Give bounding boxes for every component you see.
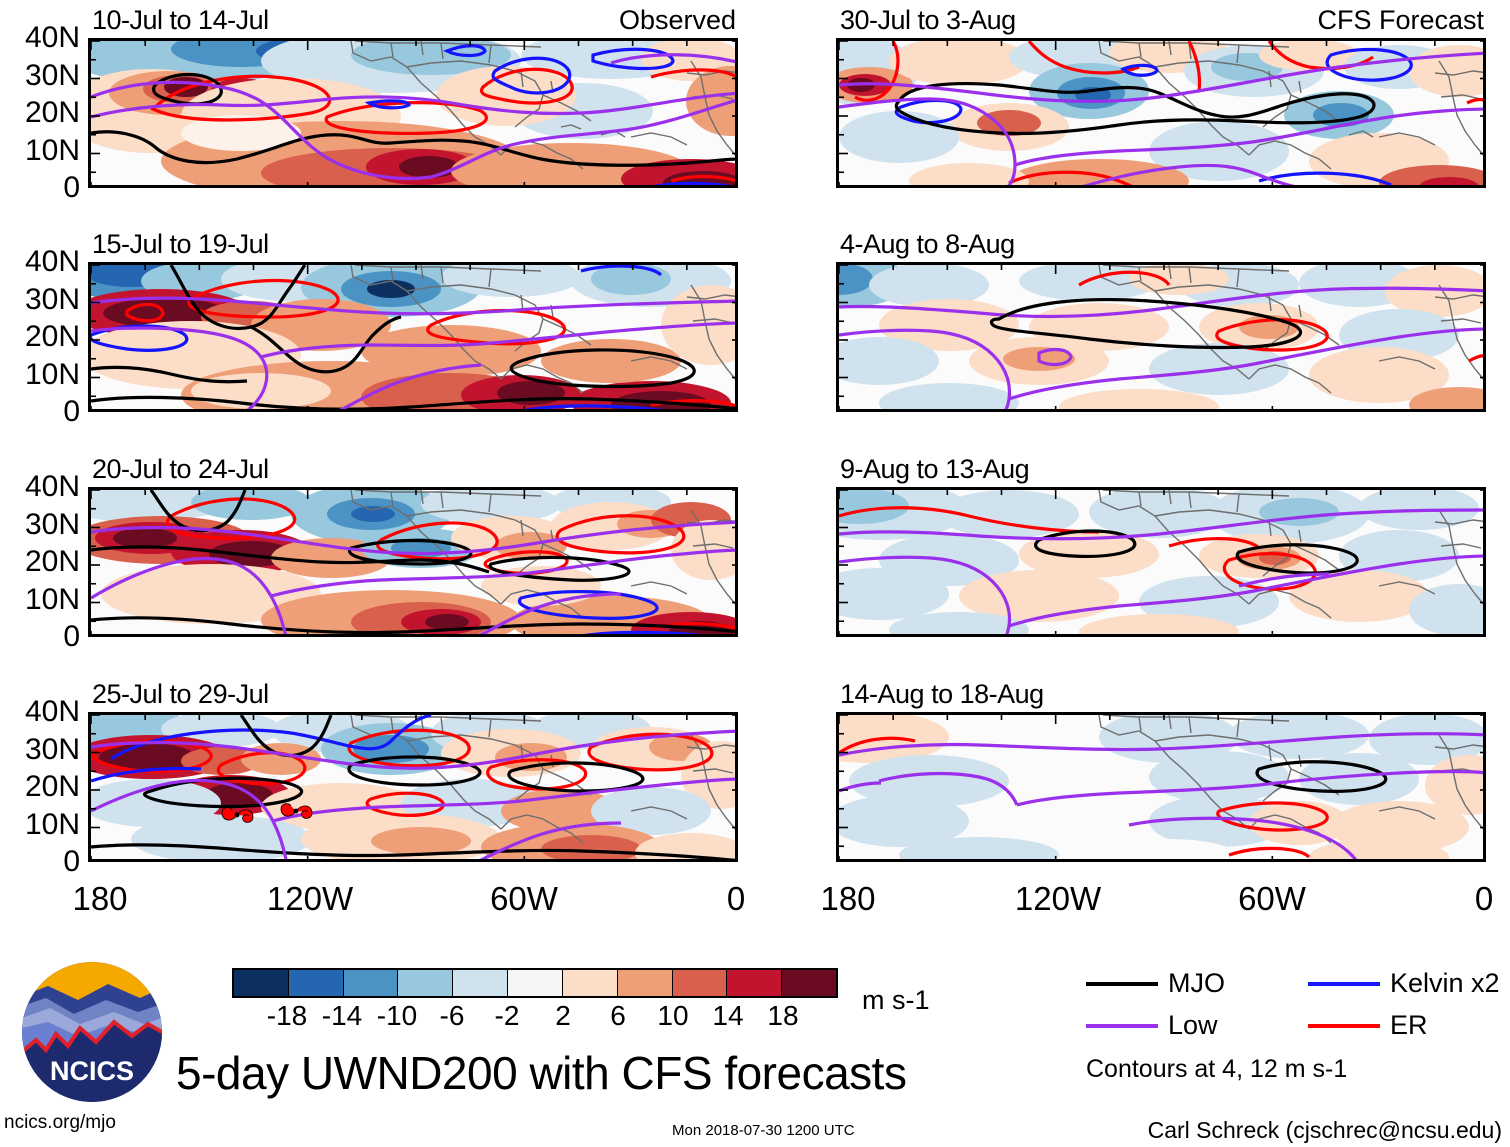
- ytick-30n: 30N: [25, 510, 80, 540]
- map-area: [836, 262, 1486, 412]
- y-axis-labels-row3: 40N 30N 20N 10N 0: [0, 487, 80, 637]
- map-area: [88, 487, 738, 637]
- ytick-20n: 20N: [25, 322, 80, 352]
- ncics-logo-svg: NCICS: [22, 962, 162, 1102]
- map-svg: [91, 265, 738, 412]
- ytick-30n: 30N: [25, 285, 80, 315]
- panel-p3: 20-Jul to 24-Jul: [88, 487, 738, 637]
- legend-entry-kelvin: Kelvin x2: [1308, 970, 1500, 997]
- colorbar-swatch: [234, 970, 289, 996]
- map-area: [88, 262, 738, 412]
- x-axis-labels-right: 180 120W 60W 0: [836, 880, 1486, 920]
- map-area: [836, 712, 1486, 862]
- ytick-40n: 40N: [25, 23, 80, 53]
- cbar-tick: -18: [267, 1000, 307, 1032]
- ytick-40n: 40N: [25, 697, 80, 727]
- er-line-swatch: [1308, 1024, 1380, 1028]
- y-axis-labels-row4: 40N 30N 20N 10N 0: [0, 712, 80, 862]
- map-area: [836, 38, 1486, 188]
- cbar-tick: -14: [322, 1000, 362, 1032]
- panel-p5: 30-Jul to 3-Aug CFS Forecast: [836, 38, 1486, 188]
- map-svg: [839, 715, 1486, 862]
- map-svg: [91, 490, 738, 637]
- colorbar-swatch: [344, 970, 399, 996]
- map-area: [88, 38, 738, 188]
- mjo-line-swatch: [1086, 982, 1158, 986]
- y-axis-labels-row2: 40N 30N 20N 10N 0: [0, 262, 80, 412]
- ytick-20n: 20N: [25, 98, 80, 128]
- xtick-0: 0: [727, 880, 745, 918]
- map-svg: [91, 41, 738, 188]
- cbar-tick: -2: [495, 1000, 520, 1032]
- colorbar-swatch: [673, 970, 728, 996]
- cbar-tick: 6: [610, 1000, 626, 1032]
- colorbar: [232, 968, 838, 998]
- ytick-10n: 10N: [25, 810, 80, 840]
- colorbar-swatch: [782, 970, 836, 996]
- legend-label: Low: [1168, 1012, 1218, 1039]
- timestamp: Mon 2018-07-30 1200 UTC: [672, 1122, 855, 1139]
- panel-p1: 10-Jul to 14-Jul Observed: [88, 38, 738, 188]
- y-axis-labels-row1: 40N 30N 20N 10N 0: [0, 38, 80, 188]
- legend-label: ER: [1390, 1012, 1428, 1039]
- ytick-10n: 10N: [25, 136, 80, 166]
- legend-entry-low: Low: [1086, 1012, 1218, 1039]
- ytick-20n: 20N: [25, 547, 80, 577]
- ytick-10n: 10N: [25, 360, 80, 390]
- ytick-40n: 40N: [25, 472, 80, 502]
- panel-title: 20-Jul to 24-Jul: [92, 454, 269, 485]
- ytick-0: 0: [63, 847, 80, 877]
- map-svg: [839, 41, 1486, 188]
- panel-title: 15-Jul to 19-Jul: [92, 229, 269, 260]
- panel-p8: 14-Aug to 18-Aug: [836, 712, 1486, 862]
- panel-p6: 4-Aug to 8-Aug: [836, 262, 1486, 412]
- cbar-tick: 18: [767, 1000, 798, 1032]
- panel-p4: 25-Jul to 29-Jul: [88, 712, 738, 862]
- contour-note: Contours at 4, 12 m s-1: [1086, 1055, 1347, 1084]
- cbar-tick: -6: [440, 1000, 465, 1032]
- colorbar-swatch: [289, 970, 344, 996]
- colorbar-unit-label: m s-1: [862, 985, 930, 1016]
- logo-text: NCICS: [50, 1056, 134, 1086]
- cbar-tick: -10: [377, 1000, 417, 1032]
- xtick-60w: 60W: [1238, 880, 1306, 918]
- colorbar-swatch: [727, 970, 782, 996]
- main-title: 5-day UWND200 with CFS forecasts: [176, 1046, 906, 1100]
- colorbar-swatch: [563, 970, 618, 996]
- panel-p2: 15-Jul to 19-Jul: [88, 262, 738, 412]
- ytick-10n: 10N: [25, 585, 80, 615]
- author-credit: Carl Schreck (cjschrec@ncsu.edu): [1148, 1117, 1502, 1144]
- panel-title: 4-Aug to 8-Aug: [840, 229, 1015, 260]
- colorbar-swatch: [453, 970, 508, 996]
- map-svg: [91, 715, 738, 862]
- x-axis-labels-left: 180 120W 60W 0: [88, 880, 738, 920]
- panel-title: 25-Jul to 29-Jul: [92, 679, 269, 710]
- kelvin-line-swatch: [1308, 982, 1380, 986]
- legend-label: Kelvin x2: [1390, 970, 1500, 997]
- colorbar-swatch: [618, 970, 673, 996]
- colorbar-swatch: [398, 970, 453, 996]
- xtick-0: 0: [1475, 880, 1493, 918]
- ytick-0: 0: [63, 622, 80, 652]
- panel-title: 14-Aug to 18-Aug: [840, 679, 1044, 710]
- legend-label: MJO: [1168, 970, 1225, 997]
- cbar-tick: 14: [712, 1000, 743, 1032]
- xtick-180: 180: [72, 880, 127, 918]
- map-area: [88, 712, 738, 862]
- map-area: [836, 487, 1486, 637]
- panel-title: 9-Aug to 13-Aug: [840, 454, 1029, 485]
- cbar-tick: 2: [555, 1000, 571, 1032]
- colorbar-ticklabels: -18 -14 -10 -6 -2 2 6 10 14 18: [232, 1000, 838, 1030]
- xtick-60w: 60W: [490, 880, 558, 918]
- column-header-forecast: CFS Forecast: [1317, 5, 1484, 36]
- xtick-120w: 120W: [1015, 880, 1101, 918]
- logo-caption: ncics.org/mjo: [4, 1112, 116, 1134]
- xtick-180: 180: [820, 880, 875, 918]
- legend-entry-er: ER: [1308, 1012, 1428, 1039]
- map-svg: [839, 490, 1486, 637]
- ncics-logo: NCICS: [22, 962, 162, 1102]
- colorbar-swatch: [508, 970, 563, 996]
- panel-p7: 9-Aug to 13-Aug: [836, 487, 1486, 637]
- legend-entry-mjo: MJO: [1086, 970, 1225, 997]
- ytick-0: 0: [63, 397, 80, 427]
- panel-title: 10-Jul to 14-Jul: [92, 5, 269, 36]
- ytick-40n: 40N: [25, 247, 80, 277]
- ytick-30n: 30N: [25, 735, 80, 765]
- ytick-20n: 20N: [25, 772, 80, 802]
- wave-legend: MJO Kelvin x2 Low ER: [1086, 970, 1506, 1056]
- panel-title: 30-Jul to 3-Aug: [840, 5, 1016, 36]
- xtick-120w: 120W: [267, 880, 353, 918]
- map-svg: [839, 265, 1486, 412]
- ytick-30n: 30N: [25, 61, 80, 91]
- column-header-observed: Observed: [619, 5, 736, 36]
- low-line-swatch: [1086, 1024, 1158, 1028]
- cbar-tick: 10: [657, 1000, 688, 1032]
- ytick-0: 0: [63, 173, 80, 203]
